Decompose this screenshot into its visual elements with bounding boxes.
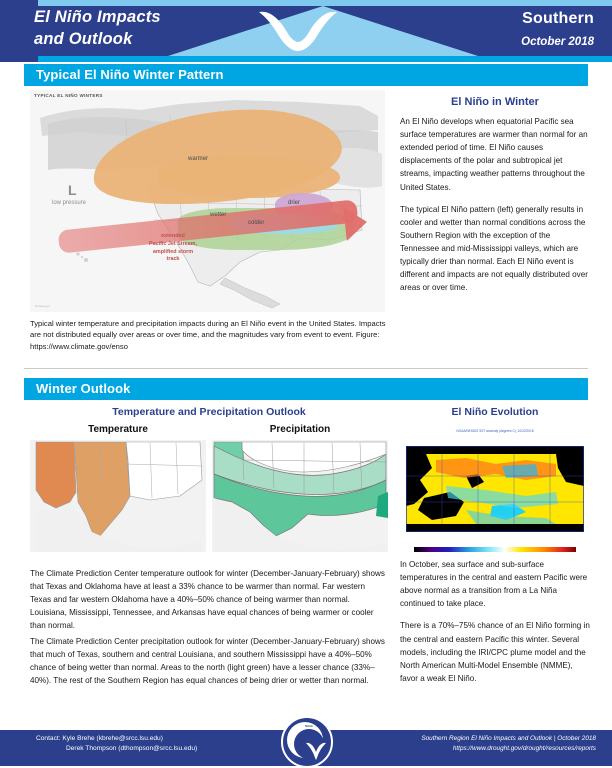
paragraph-precipitation-outlook: The Climate Prediction Center precipitat…	[30, 636, 388, 688]
contact-person-1[interactable]: Kyle Brehe (kbrehe@srcc.lsu.edu)	[62, 735, 163, 742]
report-title-line1: El Niño Impacts	[34, 7, 264, 29]
sst-map-graphic	[406, 446, 584, 532]
label-precipitation-map: Precipitation	[212, 424, 388, 435]
low-pressure-symbol: L	[68, 182, 77, 198]
footer-right-block: Southern Region El Niño Impacts and Outl…	[421, 734, 596, 754]
contact-person-2[interactable]: Derek Thompson (dthompson@srcc.lsu.edu)	[66, 745, 197, 752]
section2-right-column: In October, sea surface and sub-surface …	[400, 558, 590, 694]
jet-label-line1: extended	[118, 233, 228, 241]
temperature-map-graphic	[30, 440, 206, 552]
noaa-seal-logo: NOAA	[281, 716, 333, 768]
temperature-outlook-map	[30, 440, 206, 552]
sst-color-scale-graphic	[414, 547, 576, 552]
sst-map-caption: NOAA/NESDIS SST anomaly (degrees C), 10/…	[400, 429, 590, 433]
header-top-stripe	[38, 0, 612, 6]
header-bottom-stripe	[38, 56, 612, 62]
report-title: El Niño Impacts and Outlook	[34, 7, 264, 51]
heading-temp-precip-outlook: Temperature and Precipitation Outlook	[30, 406, 388, 418]
warmer-region-overlay-extension	[158, 156, 340, 198]
paragraph-october-sst: In October, sea surface and sub-surface …	[400, 558, 590, 610]
map-credit: climate.gov	[35, 304, 50, 308]
contact-label: Contact:	[36, 735, 61, 742]
section-header-winter-outlook: Winter Outlook	[24, 378, 588, 400]
noaa-bird-icon	[253, 8, 343, 52]
paragraph-el-nino-chance: There is a 70%–75% chance of an El Niño …	[400, 619, 590, 685]
label-temperature-map: Temperature	[30, 424, 206, 435]
heading-el-nino-in-winter: El Niño in Winter	[400, 96, 590, 108]
figure-caption-typical-pattern: Typical winter temperature and precipita…	[30, 318, 386, 352]
section-header-typical-pattern: Typical El Niño Winter Pattern	[24, 64, 588, 86]
jet-stream-arrowhead	[343, 205, 368, 241]
drier-label: drier	[288, 200, 300, 206]
jet-label-line3: amplified storm	[118, 249, 228, 257]
report-title-line2: and Outlook	[34, 29, 264, 51]
wetter-label: wetter	[210, 212, 226, 218]
section-title-typical-pattern: Typical El Niño Winter Pattern	[36, 67, 224, 82]
section-title-winter-outlook: Winter Outlook	[36, 381, 130, 396]
noaa-seal-inner-ring: NOAA	[287, 722, 323, 758]
sst-anomaly-map	[400, 440, 590, 552]
low-pressure-label: low pressure	[52, 200, 86, 206]
sst-color-scale	[414, 540, 576, 546]
sst-map-image	[406, 446, 584, 532]
jet-label-line2: Pacific Jet Stream,	[118, 241, 228, 249]
warmer-label: warmer	[188, 156, 208, 162]
footer-contact-block: Contact: Kyle Brehe (kbrehe@srcc.lsu.edu…	[36, 734, 197, 754]
noaa-seal-disc	[294, 729, 324, 759]
region-name: Southern	[522, 10, 594, 28]
noaa-seal-text: NOAA	[287, 725, 331, 728]
precipitation-outlook-map	[212, 440, 388, 552]
typical-el-nino-winters-map: TYPICAL EL NIÑO WINTERS L low pressure w…	[30, 90, 385, 312]
section1-right-column: El Niño in Winter An El Niño develops wh…	[400, 96, 590, 303]
section-divider	[24, 368, 588, 369]
precipitation-map-graphic	[212, 440, 388, 552]
map-corner-label: TYPICAL EL NIÑO WINTERS	[34, 93, 103, 98]
jet-label-line4: track	[118, 256, 228, 264]
heading-el-nino-evolution: El Niño Evolution	[400, 406, 590, 418]
paragraph-el-nino-develops: An El Niño develops when equatorial Paci…	[400, 115, 590, 194]
colder-label: colder	[248, 220, 264, 226]
page-header: El Niño Impacts and Outlook Southern Oct…	[0, 0, 612, 62]
paragraph-typical-pattern: The typical El Niño pattern (left) gener…	[400, 203, 590, 295]
footer-url[interactable]: https://www.drought.gov/drought/resource…	[421, 744, 596, 754]
noaa-seal-bird-icon	[305, 741, 327, 761]
paragraph-temperature-outlook: The Climate Prediction Center temperatur…	[30, 568, 388, 633]
footer-report-line: Southern Region El Niño Impacts and Outl…	[421, 734, 596, 744]
report-date: October 2018	[521, 36, 594, 48]
jet-stream-label: extended Pacific Jet Stream, amplified s…	[118, 233, 228, 264]
